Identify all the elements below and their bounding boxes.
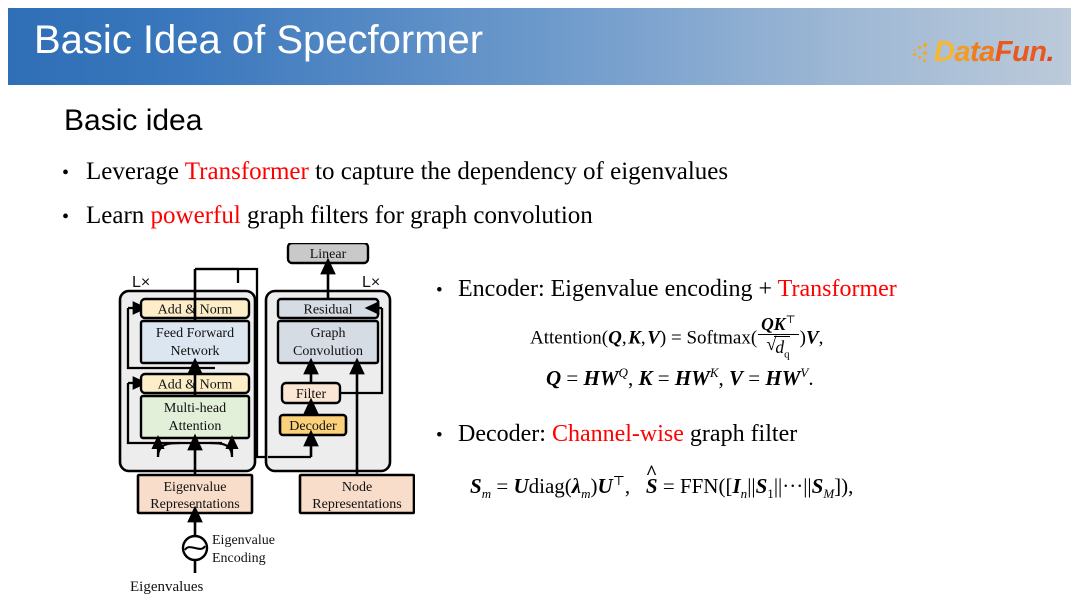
token-sub-q: q: [784, 349, 789, 361]
token-sup-K: K: [710, 365, 719, 380]
bullet-learn-powerful: •Learn powerful graph filters for graph …: [62, 202, 593, 230]
token-sub-M: M: [823, 486, 834, 501]
bullet-text-post: graph filters for graph convolution: [241, 202, 593, 229]
slide-root: Basic Idea of Specformer DataFun. Basic …: [0, 0, 1080, 608]
box-ffn-label-line1: Feed Forward: [156, 326, 234, 341]
box-ffn-label-line2: Network: [171, 344, 220, 359]
formula-qkv: Q = HWQ, K = HWK, V = HWV.: [546, 365, 814, 391]
token-I: I: [732, 474, 740, 498]
logo-dots-icon: [913, 42, 933, 62]
bullet-accent-transformer: Transformer: [185, 158, 309, 185]
token-S: S: [646, 474, 658, 498]
token-V: V: [806, 328, 819, 349]
token-transpose: ⊤: [785, 314, 795, 326]
token-sub-m: m: [482, 486, 491, 501]
encoder-output-branch: [195, 269, 238, 283]
token-U: U: [513, 474, 528, 498]
box-noderep-label-line1: Node: [342, 480, 372, 495]
token-W: W: [782, 366, 801, 390]
bullet-decoder: •Decoder: Channel-wise graph filter: [436, 421, 797, 448]
token-K: K: [628, 328, 641, 349]
token-dots: ···: [782, 474, 803, 498]
bullet-accent-powerful: powerful: [151, 202, 241, 229]
decoder-text-post: graph filter: [684, 421, 797, 447]
logo-wordmark: DataFun.: [934, 36, 1054, 69]
decoder-accent-channelwise: Channel-wise: [552, 421, 684, 447]
box-eigrep-label-line2: Representations: [150, 497, 239, 512]
box-mha-label-line2: Attention: [169, 419, 222, 434]
token-S: S: [812, 474, 824, 498]
bullet-text-post: to capture the dependency of eigenvalues: [309, 158, 728, 185]
token-Q: Q: [608, 328, 622, 349]
box-decoder-label: Decoder: [289, 419, 337, 434]
bullet-marker: •: [62, 162, 86, 184]
label-eigenvalue-encoding-line1: Eigenvalue: [212, 533, 275, 548]
bullet-text-pre: Leverage: [86, 158, 185, 185]
box-eigrep-label-line1: Eigenvalue: [164, 480, 227, 495]
token-sub-m: m: [581, 486, 590, 501]
token-U: U: [598, 474, 613, 498]
box-graphconv-label-line2: Convolution: [293, 344, 363, 359]
encoder-text-pre: Encoder: Eigenvalue encoding +: [458, 276, 778, 302]
specformer-architecture-diagram: Add & Norm Feed Forward Network Add & No…: [110, 243, 415, 601]
logo-letters-fun: Fun: [995, 36, 1047, 68]
formula-attention: Attention(Q, K, V) = Softmax(QK⊤dq)V,: [530, 316, 823, 362]
box-noderep-label-line2: Representations: [312, 497, 401, 512]
token-K: K: [638, 366, 652, 390]
label-eigenvalues: Eigenvalues: [130, 579, 203, 595]
bullet-leverage-transformer: •Leverage Transformer to capture the dep…: [62, 158, 728, 186]
decoder-text-pre: Decoder:: [458, 421, 552, 447]
softmax-label: Softmax: [686, 328, 750, 349]
token-V: V: [647, 328, 660, 349]
token-d: d: [775, 337, 784, 357]
token-W: W: [691, 366, 710, 390]
token-lambda: λ: [572, 474, 581, 498]
formula-decoder: Sm = Udiag(λm)U⊤, S = FFN([In||S1||···||…: [470, 473, 853, 502]
logo-period: .: [1046, 36, 1054, 68]
page-title: Basic Idea of Specformer: [34, 18, 483, 63]
token-S: S: [756, 474, 768, 498]
box-linear-label: Linear: [310, 247, 347, 262]
diag-label: diag: [529, 474, 565, 498]
token-Q: Q: [761, 314, 774, 334]
bullet-marker: •: [436, 425, 458, 447]
token-H: H: [675, 366, 691, 390]
token-H: H: [765, 366, 781, 390]
token-S: S: [470, 474, 482, 498]
encoder-accent-transformer: Transformer: [778, 276, 897, 302]
bullet-text-pre: Learn: [86, 202, 151, 229]
token-K: K: [774, 314, 786, 334]
attention-label: Attention: [530, 328, 602, 349]
label-eigenvalue-encoding-line2: Encoding: [212, 551, 266, 566]
bullet-marker: •: [436, 280, 458, 302]
token-W: W: [600, 366, 619, 390]
token-S-hat: S: [646, 474, 658, 499]
logo-letter-d: D: [934, 36, 954, 68]
repeat-label-left: L×: [132, 274, 150, 291]
datafun-logo: DataFun.: [913, 36, 1054, 68]
bullet-encoder: •Encoder: Eigenvalue encoding + Transfor…: [436, 276, 897, 303]
attention-fraction: QK⊤dq: [758, 315, 798, 361]
bullet-marker: •: [62, 206, 86, 228]
box-filter-label: Filter: [296, 387, 327, 402]
token-sup-Q: Q: [619, 365, 628, 380]
logo-letter-a: a: [954, 36, 970, 68]
repeat-label-right: L×: [362, 274, 380, 291]
box-residual-label: Residual: [304, 303, 353, 318]
token-H: H: [584, 366, 600, 390]
section-heading: Basic idea: [64, 104, 202, 138]
token-Q: Q: [546, 366, 561, 390]
box-mha-label-line1: Multi-head: [164, 401, 226, 416]
token-transpose: ⊤: [613, 473, 625, 488]
logo-letters-ta: ta: [970, 36, 995, 68]
box-graphconv-label-line1: Graph: [311, 326, 346, 341]
token-V: V: [729, 366, 743, 390]
ffn-label: FFN: [680, 474, 719, 498]
